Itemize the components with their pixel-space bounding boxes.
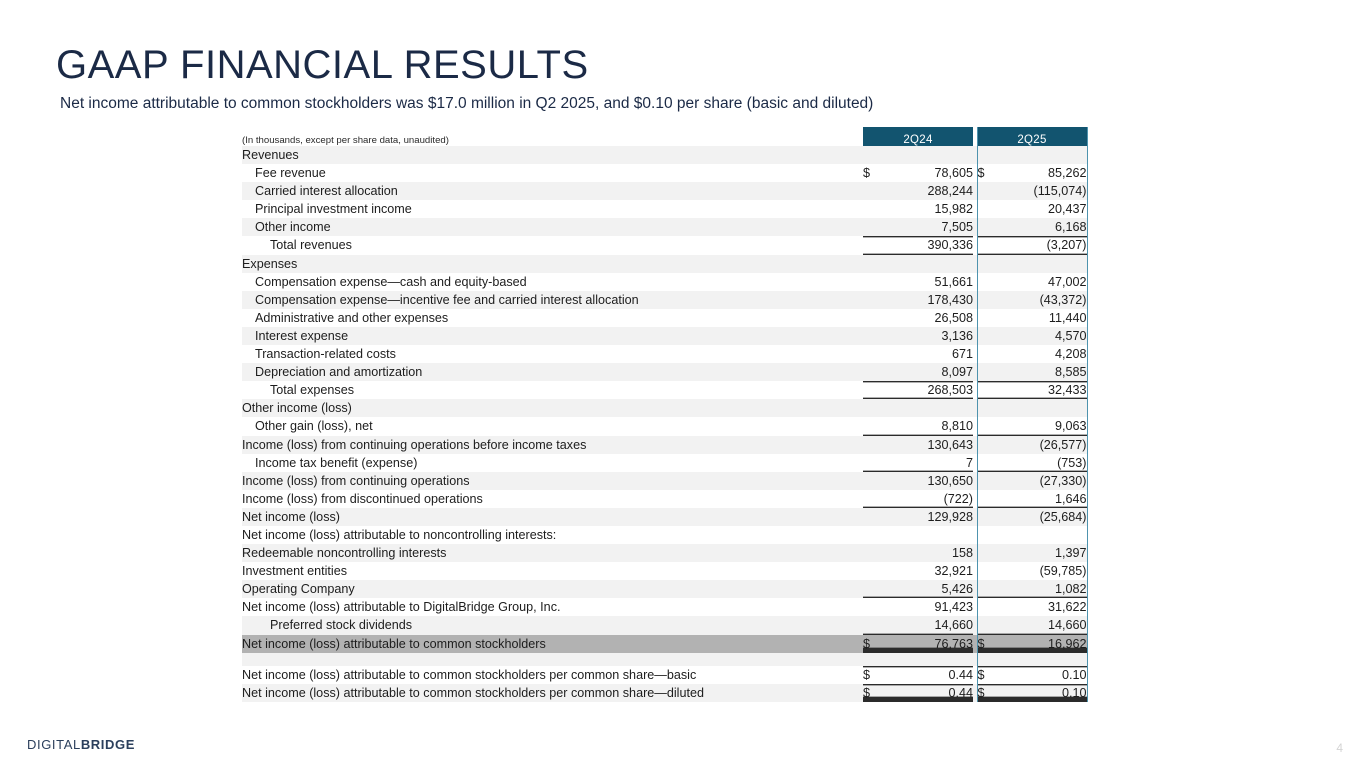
value-currency-2q24 [863,255,885,273]
table-row: Net income (loss) attributable to noncon… [242,526,1087,544]
value-2q25 [999,146,1087,164]
value-2q25 [999,255,1087,273]
value-currency-2q24 [863,273,885,291]
value-currency-2q25 [977,363,999,381]
row-label: Administrative and other expenses [242,309,863,327]
value-2q25: (25,684) [999,508,1087,526]
row-label: Investment entities [242,562,863,580]
value-2q25: 1,646 [999,490,1087,508]
value-2q24: 78,605 [885,164,973,182]
page-number: 4 [1336,741,1343,755]
value-2q25: 14,660 [999,616,1087,634]
table-row: Other income (loss) [242,399,1087,417]
table-row: Total revenues390,336(3,207) [242,236,1087,254]
row-label: Net income (loss) attributable to common… [242,635,863,653]
value-2q24: 5,426 [885,580,973,598]
value-currency-2q24 [863,526,885,544]
value-2q24: 14,660 [885,616,973,634]
table-row: Operating Company5,4261,082 [242,580,1087,598]
value-currency-2q24 [863,327,885,345]
value-currency-2q24 [863,182,885,200]
value-currency-2q24 [863,490,885,508]
value-currency-2q24 [863,580,885,598]
row-label: Principal investment income [242,200,863,218]
value-2q25: 0.10 [999,684,1087,702]
value-2q24 [885,399,973,417]
value-currency-2q24 [863,472,885,490]
value-2q25 [999,399,1087,417]
value-2q24: 8,810 [885,417,973,435]
value-2q25: (59,785) [999,562,1087,580]
value-currency-2q25 [977,309,999,327]
value-currency-2q25 [977,580,999,598]
value-2q25: (27,330) [999,472,1087,490]
value-currency-2q25 [977,273,999,291]
value-2q25: 1,082 [999,580,1087,598]
value-currency-2q25 [977,598,999,616]
row-label: Net income (loss) attributable to common… [242,666,863,684]
row-label: Transaction-related costs [242,345,863,363]
value-currency-2q24 [863,399,885,417]
value-2q25: 85,262 [999,164,1087,182]
value-currency-2q25: $ [977,684,999,702]
value-currency-2q25 [977,399,999,417]
value-2q25: (3,207) [999,236,1087,254]
value-2q24: 3,136 [885,327,973,345]
table-row: Compensation expense—cash and equity-bas… [242,273,1087,291]
value-currency-2q25: $ [977,635,999,653]
row-label: Compensation expense—incentive fee and c… [242,291,863,309]
table-row: Net income (loss) attributable to common… [242,684,1087,702]
table-row: Net income (loss) attributable to Digita… [242,598,1087,616]
row-label: Depreciation and amortization [242,363,863,381]
value-2q24: 91,423 [885,598,973,616]
value-2q25: 32,433 [999,381,1087,399]
row-label: Net income (loss) attributable to common… [242,684,863,702]
table-row: Redeemable noncontrolling interests1581,… [242,544,1087,562]
value-2q25: 4,208 [999,345,1087,363]
value-currency-2q24 [863,598,885,616]
row-label: Other income (loss) [242,399,863,417]
table-row: Income (loss) from continuing operations… [242,436,1087,454]
table-row: Administrative and other expenses26,5081… [242,309,1087,327]
value-2q25: (26,577) [999,436,1087,454]
value-2q25: 47,002 [999,273,1087,291]
value-2q24: 288,244 [885,182,973,200]
row-label: Compensation expense—cash and equity-bas… [242,273,863,291]
value-currency-2q24: $ [863,164,885,182]
table-row: Income (loss) from continuing operations… [242,472,1087,490]
value-2q24: 158 [885,544,973,562]
value-2q24: 390,336 [885,236,973,254]
value-currency-2q25 [977,182,999,200]
table-row: Income (loss) from discontinued operatio… [242,490,1087,508]
value-currency-2q25 [977,526,999,544]
table-row: Carried interest allocation288,244(115,0… [242,182,1087,200]
table-body: (In thousands, except per share data, un… [242,127,1087,702]
value-2q25: 20,437 [999,200,1087,218]
table-row: Net income (loss) attributable to common… [242,635,1087,653]
row-label: Income tax benefit (expense) [242,454,863,472]
row-label: Total expenses [242,381,863,399]
page-title: GAAP FINANCIAL RESULTS [56,42,589,88]
value-currency-2q25 [977,562,999,580]
table-row: Other gain (loss), net8,8109,063 [242,417,1087,435]
value-2q24 [885,653,973,666]
value-2q24: 178,430 [885,291,973,309]
value-2q24: 671 [885,345,973,363]
value-2q24: 76,763 [885,635,973,653]
row-label: Net income (loss) attributable to Digita… [242,598,863,616]
value-currency-2q24 [863,218,885,236]
table-row: Compensation expense—incentive fee and c… [242,291,1087,309]
value-2q24 [885,526,973,544]
value-currency-2q24 [863,236,885,254]
table-row: Principal investment income15,98220,437 [242,200,1087,218]
value-2q24 [885,255,973,273]
row-label: Preferred stock dividends [242,616,863,634]
row-label: Interest expense [242,327,863,345]
value-2q24: 129,928 [885,508,973,526]
row-label: Carried interest allocation [242,182,863,200]
value-2q24: 26,508 [885,309,973,327]
row-label: Fee revenue [242,164,863,182]
value-2q24: 130,650 [885,472,973,490]
value-currency-2q24 [863,562,885,580]
value-currency-2q24 [863,436,885,454]
table-row: Revenues [242,146,1087,164]
financial-table-container: (In thousands, except per share data, un… [242,127,1087,702]
value-2q25: 16,962 [999,635,1087,653]
value-currency-2q24 [863,363,885,381]
value-2q24: (722) [885,490,973,508]
value-2q25: 31,622 [999,598,1087,616]
row-label: Income (loss) from continuing operations… [242,436,863,454]
value-currency-2q24 [863,454,885,472]
table-units-note: (In thousands, except per share data, un… [242,127,863,146]
value-2q24: 51,661 [885,273,973,291]
value-currency-2q24 [863,291,885,309]
logo-text-bridge: BRIDGE [81,737,135,752]
value-currency-2q25 [977,454,999,472]
table-header-row: (In thousands, except per share data, un… [242,127,1087,146]
row-label: Income (loss) from continuing operations [242,472,863,490]
table-row: Transaction-related costs6714,208 [242,345,1087,363]
value-currency-2q25 [977,616,999,634]
value-currency-2q25 [977,417,999,435]
value-currency-2q25 [977,291,999,309]
value-currency-2q25 [977,200,999,218]
value-2q24: 8,097 [885,363,973,381]
value-currency-2q24 [863,417,885,435]
value-currency-2q25 [977,472,999,490]
column-header-2q24: 2Q24 [863,127,973,146]
table-row: Preferred stock dividends14,66014,660 [242,616,1087,634]
value-currency-2q25 [977,544,999,562]
row-label: Other gain (loss), net [242,417,863,435]
value-2q25: (753) [999,454,1087,472]
value-currency-2q24 [863,200,885,218]
value-currency-2q25 [977,653,999,666]
row-label: Income (loss) from discontinued operatio… [242,490,863,508]
value-currency-2q25 [977,345,999,363]
value-currency-2q24 [863,544,885,562]
row-label [242,653,863,666]
row-label: Expenses [242,255,863,273]
digitalbridge-logo: DIGITALBRIDGE [27,737,135,752]
value-2q25 [999,653,1087,666]
value-currency-2q24 [863,616,885,634]
table-row: Investment entities32,921(59,785) [242,562,1087,580]
value-currency-2q24 [863,146,885,164]
value-currency-2q24 [863,309,885,327]
table-row: Fee revenue$78,605$85,262 [242,164,1087,182]
value-2q25: 9,063 [999,417,1087,435]
value-currency-2q25 [977,327,999,345]
row-label: Revenues [242,146,863,164]
row-label: Total revenues [242,236,863,254]
value-2q25: (115,074) [999,182,1087,200]
value-2q24: 7 [885,454,973,472]
row-label: Net income (loss) attributable to noncon… [242,526,863,544]
table-row: Other income7,5056,168 [242,218,1087,236]
value-2q25: 8,585 [999,363,1087,381]
table-row: Interest expense3,1364,570 [242,327,1087,345]
value-2q24: 0.44 [885,666,973,684]
value-2q25: (43,372) [999,291,1087,309]
row-label: Redeemable noncontrolling interests [242,544,863,562]
value-currency-2q25 [977,146,999,164]
value-currency-2q25 [977,508,999,526]
value-currency-2q24: $ [863,666,885,684]
value-currency-2q24 [863,508,885,526]
value-currency-2q24: $ [863,635,885,653]
value-2q24: 15,982 [885,200,973,218]
value-2q25: 11,440 [999,309,1087,327]
value-2q24: 32,921 [885,562,973,580]
table-spacer-row [242,653,1087,666]
value-2q25: 1,397 [999,544,1087,562]
value-2q24: 7,505 [885,218,973,236]
value-2q25: 0.10 [999,666,1087,684]
row-label: Other income [242,218,863,236]
slide-subtitle: Net income attributable to common stockh… [60,94,873,114]
value-2q24: 268,503 [885,381,973,399]
row-label: Net income (loss) [242,508,863,526]
table-row: Depreciation and amortization8,0978,585 [242,363,1087,381]
table-row: Total expenses268,50332,433 [242,381,1087,399]
value-currency-2q25 [977,255,999,273]
value-currency-2q24: $ [863,684,885,702]
value-2q25: 6,168 [999,218,1087,236]
logo-text-digital: DIGITAL [27,737,81,752]
gaap-financial-results-table: (In thousands, except per share data, un… [242,127,1088,702]
table-row: Expenses [242,255,1087,273]
value-currency-2q25: $ [977,666,999,684]
column-header-2q25: 2Q25 [977,127,1087,146]
value-2q24: 0.44 [885,684,973,702]
value-currency-2q25 [977,490,999,508]
value-currency-2q25 [977,436,999,454]
value-currency-2q25 [977,218,999,236]
table-row: Income tax benefit (expense)7(753) [242,454,1087,472]
table-row: Net income (loss)129,928(25,684) [242,508,1087,526]
value-2q24 [885,146,973,164]
table-row: Net income (loss) attributable to common… [242,666,1087,684]
value-2q25 [999,526,1087,544]
value-currency-2q25: $ [977,164,999,182]
value-2q24: 130,643 [885,436,973,454]
value-2q25: 4,570 [999,327,1087,345]
value-currency-2q25 [977,236,999,254]
value-currency-2q24 [863,345,885,363]
value-currency-2q24 [863,653,885,666]
row-label: Operating Company [242,580,863,598]
value-currency-2q25 [977,381,999,399]
value-currency-2q24 [863,381,885,399]
